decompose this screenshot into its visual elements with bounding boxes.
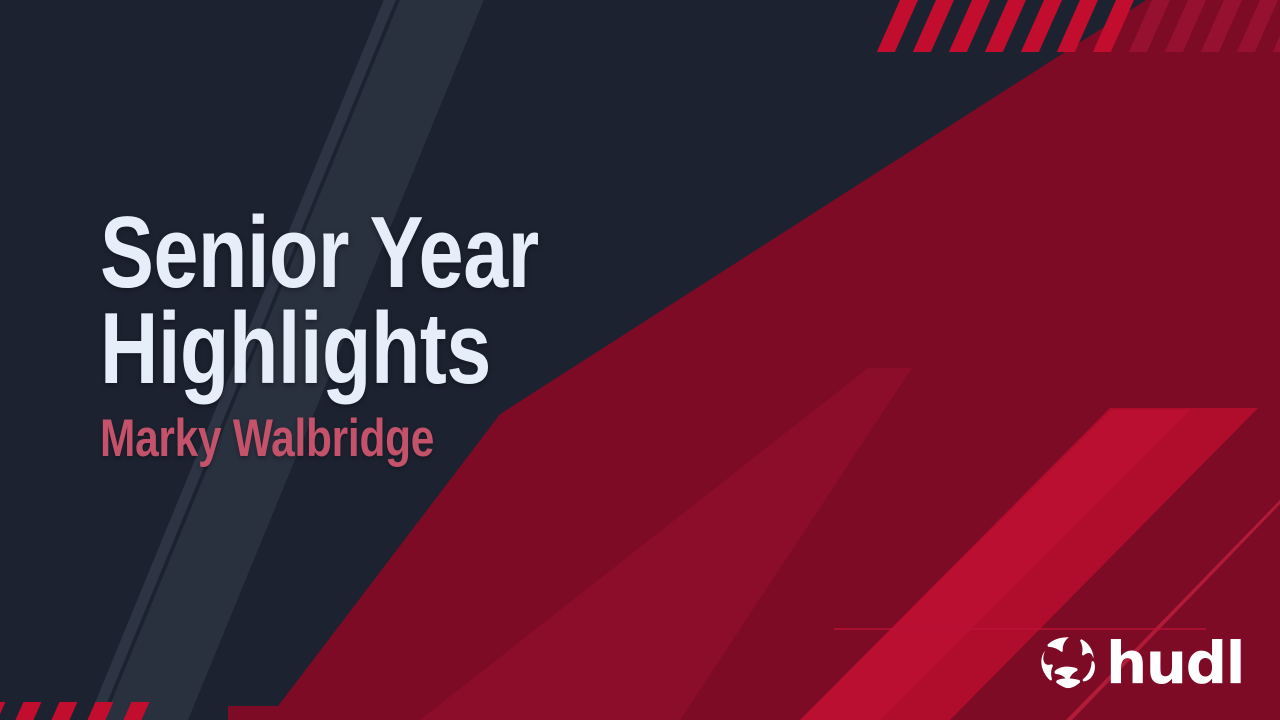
highlight-title-card: Senior Year Highlights Marky Walbridge h… [0,0,1280,720]
hudl-shield-icon [1040,636,1096,690]
title-text-block: Senior Year Highlights Marky Walbridge [100,206,740,466]
page-title: Senior Year Highlights [100,206,612,398]
hudl-wordmark: hudl [1106,634,1244,692]
athlete-name: Marky Walbridge [100,412,612,466]
hudl-logo: hudl [1040,634,1244,692]
bottom-stripes-over-navy [0,660,168,720]
